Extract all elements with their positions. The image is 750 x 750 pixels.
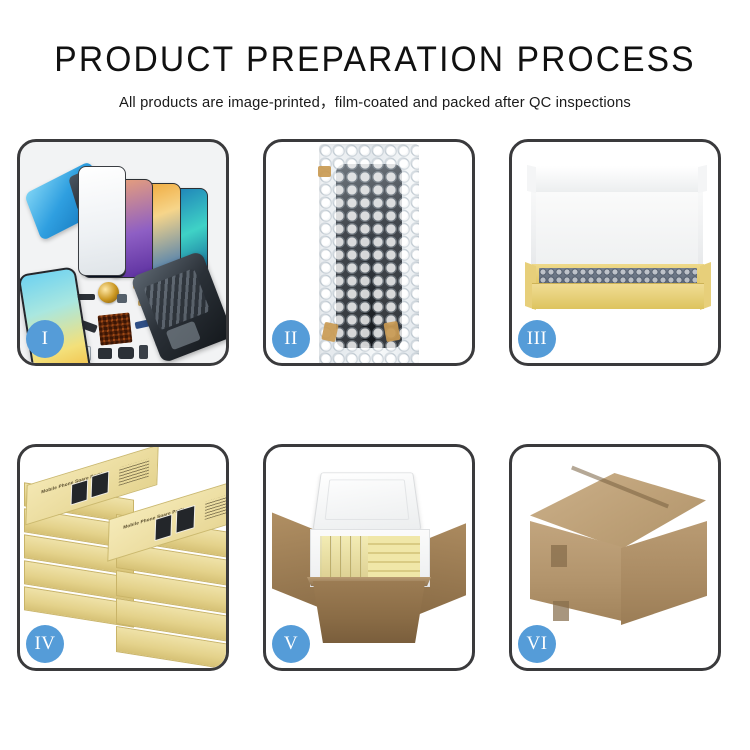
component-part-icon: [118, 347, 134, 359]
page-title: PRODUCT PREPARATION PROCESS: [15, 0, 735, 79]
flex-cable-icon: [363, 234, 376, 346]
step-badge-5: V: [272, 625, 310, 663]
process-step-panel-4: Mobile Phone Spare Parts Mobile Phone Sp…: [17, 444, 229, 671]
process-step-panel-5: V: [263, 444, 475, 671]
box-print-screen-icon: [91, 471, 110, 499]
carton-tab-icon: [553, 601, 569, 621]
process-step-panel-3: III: [509, 139, 721, 366]
retail-box-edge-icon: [352, 536, 361, 580]
speaker-coil-icon: [98, 282, 119, 303]
foam-lid-icon: [313, 472, 422, 530]
box-print-spec-lines: [205, 493, 226, 520]
foam-sheet-icon: [536, 192, 698, 270]
header: PRODUCT PREPARATION PROCESS All products…: [0, 0, 750, 112]
retail-box-flat-icon: [368, 536, 420, 580]
copper-grid-icon: [98, 312, 133, 345]
box-print-screen-icon: [71, 479, 89, 505]
infographic-page: PRODUCT PREPARATION PROCESS All products…: [0, 0, 750, 750]
step-badge-2: II: [272, 320, 310, 358]
page-subtitle: All products are image-printed，film-coat…: [11, 79, 739, 112]
step-badge-6: VI: [518, 625, 556, 663]
process-step-panel-1: I: [17, 139, 229, 366]
process-step-panel-2: II: [263, 139, 475, 366]
box-lid-top-icon: [531, 166, 703, 192]
carton-front-icon: [305, 581, 433, 643]
box-tray-front-icon: [532, 283, 704, 309]
process-step-grid: I II III: [17, 139, 733, 671]
tape-strip-icon: [383, 321, 400, 342]
step-badge-3: III: [518, 320, 556, 358]
retail-box-edge-icon: [322, 536, 331, 580]
component-part-icon: [139, 345, 148, 359]
retail-box-edge-icon: [332, 536, 341, 580]
tempered-glass-icon: [78, 166, 126, 276]
process-step-panel-6: VI: [509, 444, 721, 671]
carton-tab-icon: [551, 545, 567, 567]
box-print-screen-icon: [176, 505, 196, 534]
step-badge-4: IV: [26, 625, 64, 663]
box-print-screen-icon: [154, 514, 172, 541]
component-part-icon: [98, 348, 112, 359]
box-print-spec-lines: [119, 458, 150, 485]
step-badge-1: I: [26, 320, 64, 358]
component-part-icon: [117, 294, 127, 303]
retail-box-edge-icon: [342, 536, 351, 580]
tape-strip-icon: [318, 166, 331, 177]
boxes-in-foam-icon: [320, 536, 420, 580]
